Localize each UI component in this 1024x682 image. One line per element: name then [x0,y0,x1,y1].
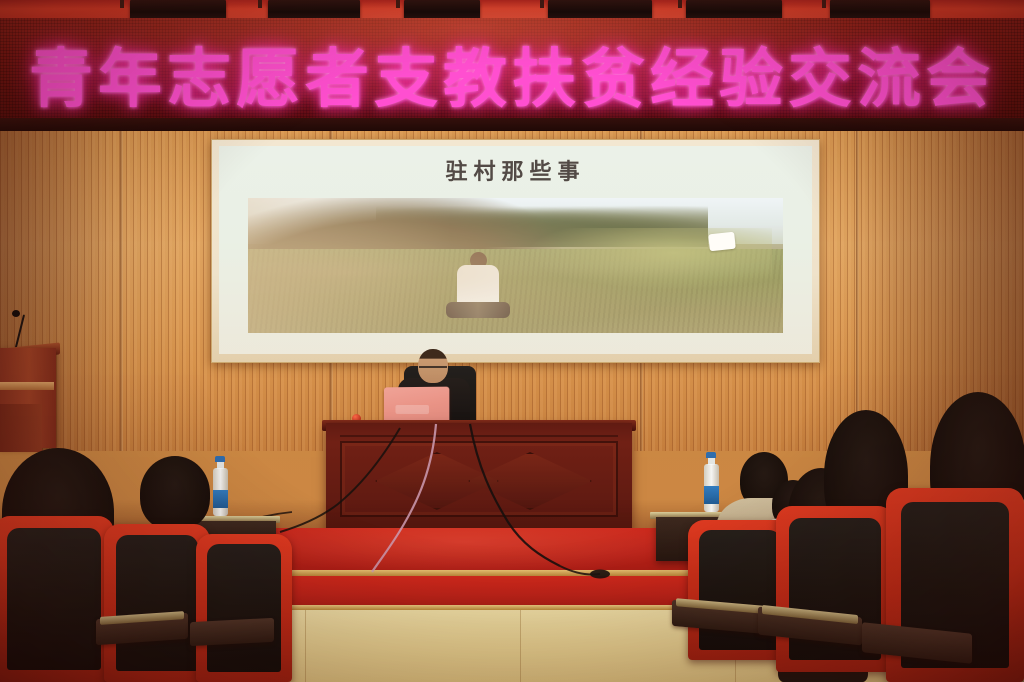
lectern-base [0,404,42,452]
lectern-shelf [0,382,54,390]
stage-light-icon [404,0,480,20]
photo-haze-overlay [248,198,783,333]
stage-light-arm [396,0,400,8]
stage-light-arm [540,0,544,8]
seat-backrest [7,528,101,671]
projection-screen: 驻村那些事 [211,139,820,363]
slide-photo [248,198,783,333]
stage-light-icon [830,0,930,20]
head-table-trim-line [340,435,618,437]
attendee-left-2 [140,456,210,530]
audience-seat[interactable] [196,534,292,682]
wall-seam [120,131,123,451]
stage-light-arm [120,0,124,8]
floor-grout-line [305,610,306,682]
audience-seat[interactable] [0,516,114,682]
microphone-icon [12,310,20,317]
audience-seat[interactable] [104,524,210,682]
attendee-hair [140,456,210,530]
led-banner: 青年志愿者支教扶贫经验交流会 [0,18,1024,123]
stage-light-icon [268,0,360,20]
stage-light-arm [678,0,682,8]
floor-grout-line [520,610,521,682]
projection-screen-surface: 驻村那些事 [219,146,812,354]
conference-hall-photo: 青年志愿者支教扶贫经验交流会 驻村那些事 [0,0,1024,682]
seat-armrest [190,618,274,646]
bottle-label [213,490,228,508]
led-banner-text: 青年志愿者支教扶贫经验交流会 [0,28,1024,120]
laptop [384,387,449,424]
seat-backrest [207,544,282,671]
laptop-logo [395,405,429,414]
stage-light-icon [686,0,782,20]
stage-light-arm [258,0,262,8]
seat-backrest [116,535,199,671]
glasses-icon [419,366,447,373]
stage-light-icon [548,0,652,20]
water-bottle-left [212,456,228,518]
slide-title: 驻村那些事 [219,154,812,186]
stage-light-icon [130,0,226,20]
stage-light-arm [822,0,826,8]
stage-carpet-highlight [230,528,700,574]
